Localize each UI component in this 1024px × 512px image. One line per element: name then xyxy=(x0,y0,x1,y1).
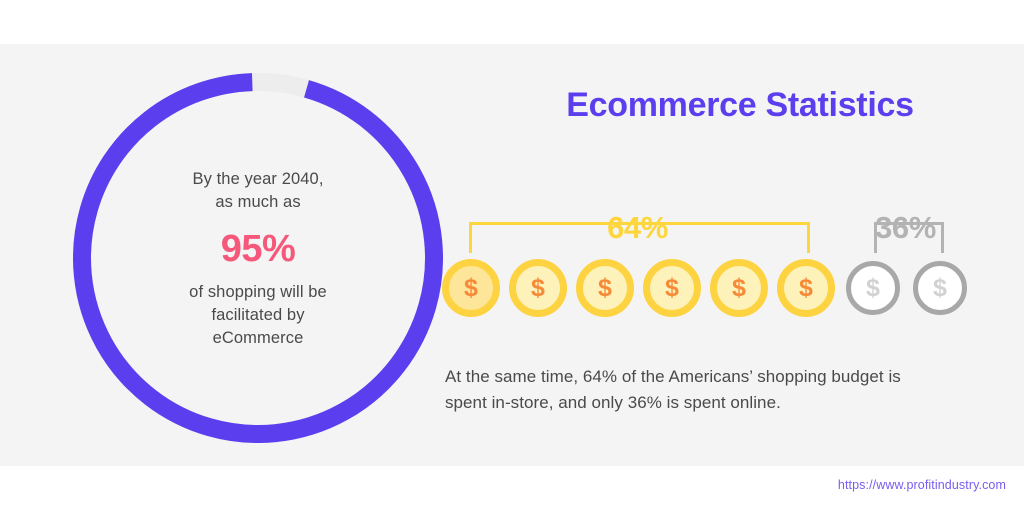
donut-value-label: 95% xyxy=(123,223,393,275)
infographic-canvas: By the year 2040, as much as 95% of shop… xyxy=(0,0,1024,512)
donut-line-5: eCommerce xyxy=(123,327,393,350)
donut-line-3: of shopping will be xyxy=(123,281,393,304)
coin-empty-icon: $ xyxy=(846,261,900,315)
coin-icon: $ xyxy=(710,259,768,317)
online-bracket xyxy=(874,222,944,253)
coin-icon: $ xyxy=(777,259,835,317)
coin-icon: $ xyxy=(509,259,567,317)
coin-icon: $ xyxy=(576,259,634,317)
source-url[interactable]: https://www.profitindustry.com xyxy=(838,478,1006,492)
summary-paragraph: At the same time, 64% of the Americans’ … xyxy=(445,364,945,416)
coin-empty-icon: $ xyxy=(913,261,967,315)
donut-center-text: By the year 2040, as much as 95% of shop… xyxy=(123,168,393,350)
donut-line-1: By the year 2040, xyxy=(123,168,393,191)
page-title: Ecommerce Statistics xyxy=(510,86,970,125)
donut-line-4: facilitated by xyxy=(123,304,393,327)
coin-pictogram-row: $ $ $ $ $ $ $ $ xyxy=(440,259,1024,323)
donut-line-2: as much as xyxy=(123,191,393,214)
right-column: Ecommerce Statistics 64% 36% $ $ $ $ $ $… xyxy=(440,44,1024,466)
in-store-bracket xyxy=(469,222,810,253)
coin-icon: $ xyxy=(442,259,500,317)
coin-icon: $ xyxy=(643,259,701,317)
donut-chart: By the year 2040, as much as 95% of shop… xyxy=(73,73,443,443)
